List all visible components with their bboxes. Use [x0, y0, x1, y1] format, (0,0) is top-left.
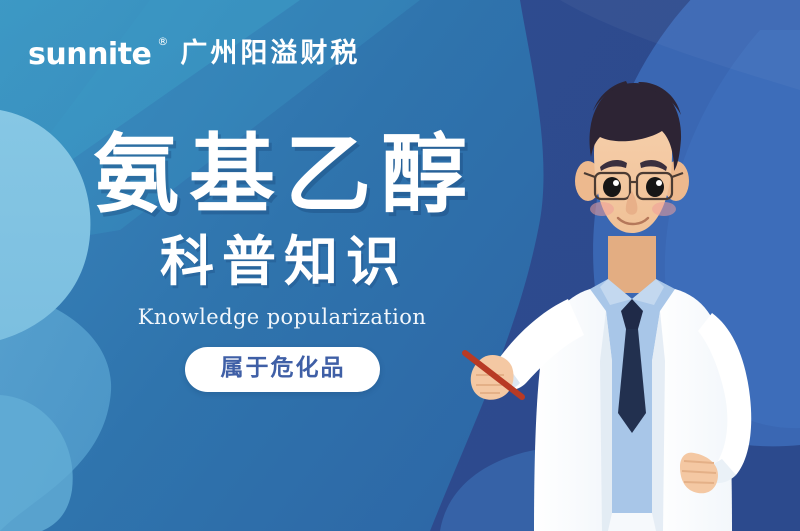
- blush-right: [652, 202, 676, 216]
- eye-right: [646, 177, 664, 197]
- promo-banner: sunnite ® 广州阳溢财税 氨基乙醇 科普知识 Knowledge pop…: [0, 0, 800, 531]
- logo-wordmark: sunnite: [28, 40, 151, 70]
- logo-company-name-cn: 广州阳溢财税: [180, 40, 360, 67]
- sub-title: 科普知识: [0, 232, 560, 291]
- blush-left: [590, 202, 614, 216]
- main-title: 氨基乙醇: [0, 132, 560, 220]
- badge-wrapper: 属于危化品: [0, 347, 560, 392]
- eye-left: [603, 177, 621, 197]
- neck: [608, 236, 656, 293]
- headline-block: 氨基乙醇 科普知识 Knowledge popularization 属于危化品: [0, 132, 560, 392]
- trousers: [608, 513, 656, 531]
- brand-logo: sunnite ® 广州阳溢财税: [28, 34, 362, 64]
- hazard-badge[interactable]: 属于危化品: [185, 347, 380, 392]
- eye-left-highlight: [613, 180, 619, 186]
- english-subtitle: Knowledge popularization: [0, 305, 560, 329]
- registered-trademark-icon: ®: [157, 36, 168, 47]
- eye-right-highlight: [656, 180, 662, 186]
